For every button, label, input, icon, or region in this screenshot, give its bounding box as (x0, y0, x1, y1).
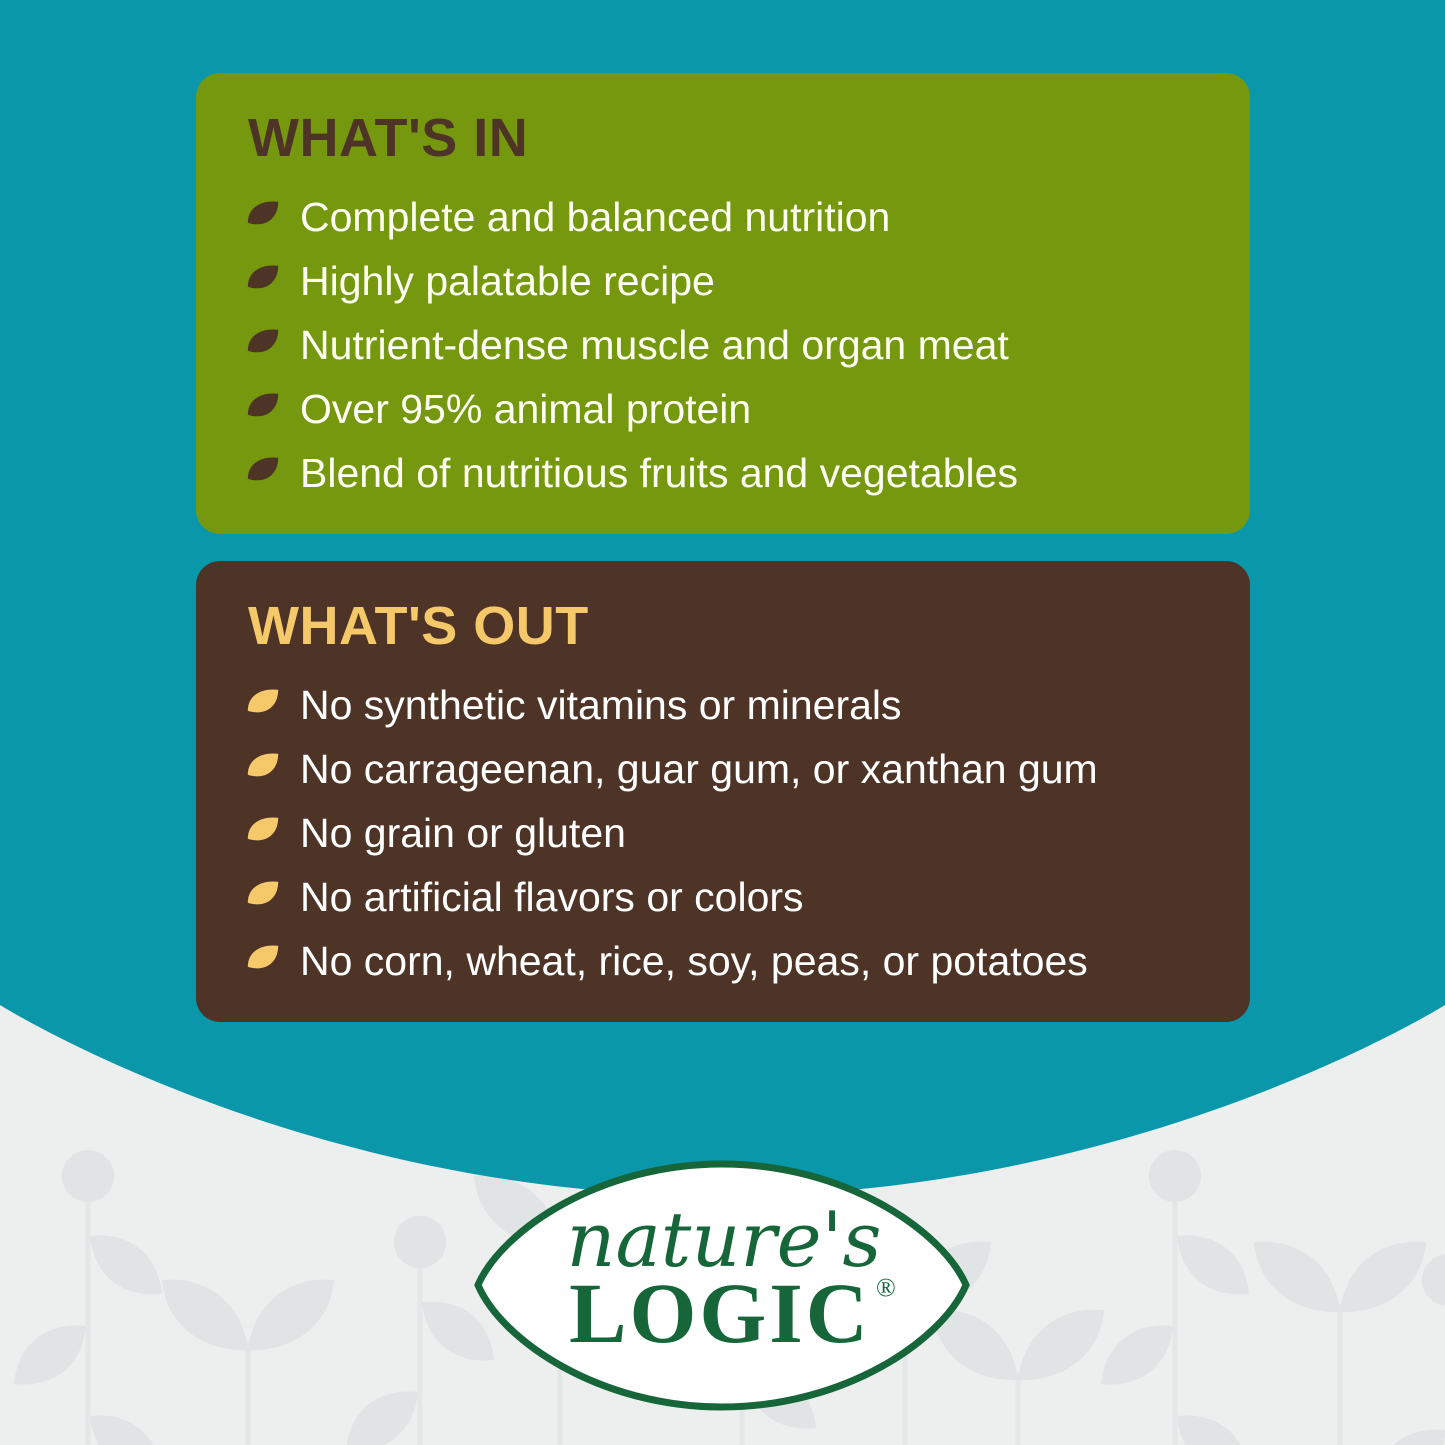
logo-main-word: LOGIC (569, 1265, 871, 1361)
panel-whats-in-title: WHAT'S IN (248, 111, 1210, 165)
list-item: Blend of nutritious fruits and vegetable… (244, 445, 1210, 501)
leaf-icon (244, 750, 282, 788)
panel-whats-out: WHAT'S OUT No synthetic vitamins or mine… (196, 561, 1250, 1022)
leaf-icon (244, 878, 282, 916)
list-item: Nutrient-dense muscle and organ meat (244, 317, 1210, 373)
leaf-icon (244, 686, 282, 724)
leaf-icon (244, 454, 282, 492)
list-item: Complete and balanced nutrition (244, 189, 1210, 245)
logo-registered-mark: ® (876, 1273, 896, 1302)
list-item-label: No synthetic vitamins or minerals (300, 681, 902, 729)
list-item: No synthetic vitamins or minerals (244, 677, 1210, 733)
whats-in-list: Complete and balanced nutrition Highly p… (244, 189, 1210, 501)
brand-logo: nature's LOGIC ® (472, 1158, 972, 1413)
whats-out-list: No synthetic vitamins or minerals No car… (244, 677, 1210, 989)
infographic-canvas: WHAT'S IN Complete and balanced nutritio… (0, 0, 1445, 1445)
list-item-label: Nutrient-dense muscle and organ meat (300, 321, 1009, 369)
list-item-label: No artificial flavors or colors (300, 873, 804, 921)
leaf-icon (244, 814, 282, 852)
list-item-label: No corn, wheat, rice, soy, peas, or pota… (300, 937, 1088, 985)
panel-whats-in: WHAT'S IN Complete and balanced nutritio… (196, 73, 1250, 534)
leaf-icon (244, 262, 282, 300)
list-item-label: Highly palatable recipe (300, 257, 715, 305)
leaf-icon (244, 942, 282, 980)
list-item: No carrageenan, guar gum, or xanthan gum (244, 741, 1210, 797)
list-item: Highly palatable recipe (244, 253, 1210, 309)
list-item: Over 95% animal protein (244, 381, 1210, 437)
leaf-icon (244, 390, 282, 428)
list-item-label: Blend of nutritious fruits and vegetable… (300, 449, 1018, 497)
list-item-label: Complete and balanced nutrition (300, 193, 890, 241)
leaf-icon (244, 326, 282, 364)
panel-whats-out-title: WHAT'S OUT (248, 599, 1210, 653)
list-item-label: No carrageenan, guar gum, or xanthan gum (300, 745, 1098, 793)
list-item: No artificial flavors or colors (244, 869, 1210, 925)
list-item-label: No grain or gluten (300, 809, 626, 857)
list-item: No corn, wheat, rice, soy, peas, or pota… (244, 933, 1210, 989)
list-item: No grain or gluten (244, 805, 1210, 861)
list-item-label: Over 95% animal protein (300, 385, 751, 433)
leaf-icon (244, 198, 282, 236)
